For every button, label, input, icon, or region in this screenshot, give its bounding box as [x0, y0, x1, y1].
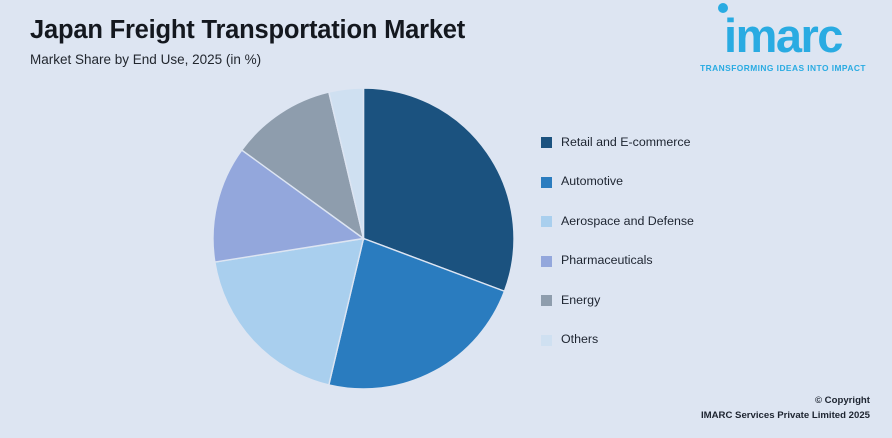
page-title: Japan Freight Transportation Market: [30, 16, 550, 45]
legend-swatch-icon: [541, 295, 552, 306]
legend-item-pharmaceuticals[interactable]: Pharmaceuticals: [541, 242, 791, 282]
infographic-canvas: Japan Freight Transportation Market Mark…: [0, 0, 892, 438]
imarc-logo: imarc TRANSFORMING IDEAS INTO IMPACT: [692, 12, 874, 73]
logo-wordmark-text: imarc: [724, 9, 842, 62]
footer-copyright: © Copyright IMARC Services Private Limit…: [701, 394, 870, 424]
legend-item-automotive[interactable]: Automotive: [541, 163, 791, 203]
legend-swatch-icon: [541, 177, 552, 188]
legend-item-retail-and-e-commerce[interactable]: Retail and E-commerce: [541, 123, 791, 163]
copyright-line: © Copyright: [701, 394, 870, 409]
logo-tagline: TRANSFORMING IDEAS INTO IMPACT: [692, 63, 874, 73]
legend-item-energy[interactable]: Energy: [541, 281, 791, 321]
pie-chart: [213, 88, 514, 389]
logo-dot-icon: [718, 3, 728, 13]
legend-swatch-icon: [541, 256, 552, 267]
legend-label: Energy: [561, 294, 600, 308]
legend-swatch-icon: [541, 335, 552, 346]
legend-item-others[interactable]: Others: [541, 321, 791, 361]
header-block: Japan Freight Transportation Market Mark…: [30, 16, 550, 69]
legend-label: Others: [561, 333, 598, 347]
company-line: IMARC Services Private Limited 2025: [701, 409, 870, 424]
legend-swatch-icon: [541, 137, 552, 148]
legend-label: Retail and E-commerce: [561, 136, 690, 150]
chart-legend: Retail and E-commerce Automotive Aerospa…: [541, 123, 791, 360]
legend-swatch-icon: [541, 216, 552, 227]
legend-label: Automotive: [561, 175, 623, 189]
legend-item-aerospace-and-defense[interactable]: Aerospace and Defense: [541, 202, 791, 242]
logo-wordmark: imarc: [692, 12, 874, 60]
page-subtitle: Market Share by End Use, 2025 (in %): [30, 52, 550, 68]
legend-label: Pharmaceuticals: [561, 254, 653, 268]
legend-label: Aerospace and Defense: [561, 215, 694, 229]
pie-chart-svg: [213, 88, 514, 389]
